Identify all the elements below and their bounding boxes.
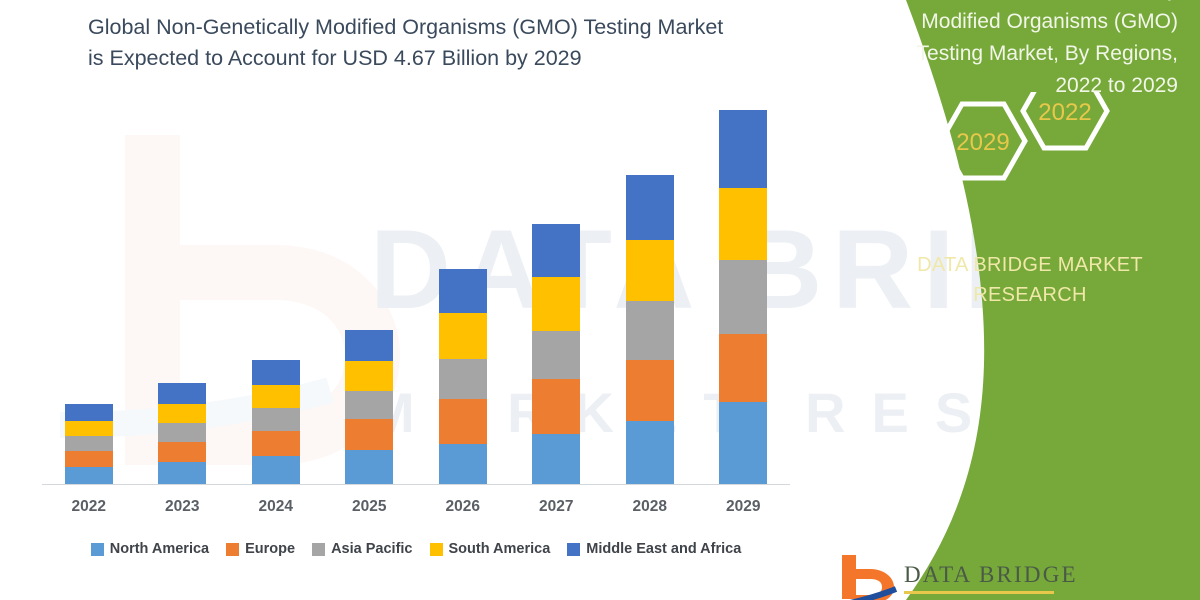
x-axis-label-2027: 2027 — [510, 498, 604, 516]
bar-slot — [510, 110, 604, 484]
brand-line-1: DATA BRIDGE MARKET — [880, 250, 1180, 280]
data-bridge-logo-text: DATA BRIDGE — [904, 562, 1078, 588]
bar-segment — [719, 334, 767, 402]
legend-item-south-america[interactable]: South America — [430, 541, 551, 557]
legend-label: Europe — [245, 541, 295, 557]
bar-segment — [439, 399, 487, 445]
legend-item-asia-pacific[interactable]: Asia Pacific — [312, 541, 412, 557]
bar-segment — [345, 450, 393, 484]
legend-label: Middle East and Africa — [586, 541, 741, 557]
bar-segment — [532, 331, 580, 379]
bar-segment — [626, 421, 674, 484]
bar-slot — [416, 110, 510, 484]
bar-slot — [603, 110, 697, 484]
bar-segment — [626, 301, 674, 360]
legend-swatch-icon — [312, 543, 325, 556]
brand-name: DATA BRIDGE MARKET RESEARCH — [880, 250, 1180, 310]
stacked-bar-2027[interactable] — [532, 224, 580, 484]
chart-legend: North AmericaEuropeAsia PacificSouth Ame… — [42, 541, 790, 557]
bar-segment — [252, 385, 300, 409]
bar-segment — [158, 462, 206, 484]
x-axis-label-2025: 2025 — [323, 498, 417, 516]
bar-slot — [697, 110, 791, 484]
bar-segment — [158, 383, 206, 403]
stacked-bar-2028[interactable] — [626, 175, 674, 484]
legend-swatch-icon — [91, 543, 104, 556]
bar-segment — [252, 360, 300, 385]
x-axis-line — [42, 484, 790, 485]
bar-segment — [532, 379, 580, 433]
brand-line-2: RESEARCH — [880, 280, 1180, 310]
infographic-canvas: DATA BRIDGE MARKET RESEARCH Global Non-G… — [0, 0, 1200, 600]
legend-item-europe[interactable]: Europe — [226, 541, 295, 557]
stacked-bar-2029[interactable] — [719, 110, 767, 484]
bar-segment — [532, 434, 580, 484]
brand-panel: Global Non-Genetically Modified Organism… — [810, 0, 1200, 600]
x-axis-label-2024: 2024 — [229, 498, 323, 516]
legend-swatch-icon — [226, 543, 239, 556]
stacked-bar-2022[interactable] — [65, 404, 113, 484]
bar-segment — [439, 269, 487, 312]
bar-segment — [719, 110, 767, 188]
bar-segment — [532, 277, 580, 331]
bar-segment — [252, 456, 300, 484]
bar-segment — [439, 444, 487, 484]
stacked-bar-2026[interactable] — [439, 269, 487, 484]
legend-label: Asia Pacific — [331, 541, 412, 557]
hexagon-2022-label: 2022 — [1038, 99, 1091, 126]
legend-swatch-icon — [567, 543, 580, 556]
bar-segment — [158, 423, 206, 442]
bar-segment — [345, 361, 393, 390]
x-axis-label-2023: 2023 — [136, 498, 230, 516]
bar-segment — [532, 224, 580, 277]
bar-segment — [439, 359, 487, 399]
bar-slot — [42, 110, 136, 484]
bar-segment — [252, 408, 300, 431]
stacked-bar-group — [42, 110, 790, 484]
bar-segment — [65, 467, 113, 484]
chart-region: Global Non-Genetically Modified Organism… — [0, 0, 830, 600]
bar-segment — [626, 240, 674, 301]
bar-segment — [65, 451, 113, 467]
x-axis-label-2026: 2026 — [416, 498, 510, 516]
bar-segment — [719, 260, 767, 333]
bar-segment — [65, 404, 113, 420]
x-axis-label-2029: 2029 — [697, 498, 791, 516]
bar-segment — [719, 188, 767, 260]
page-title: Global Non-Genetically Modified Organism… — [88, 12, 728, 74]
legend-label: North America — [110, 541, 209, 557]
bar-segment — [439, 313, 487, 359]
x-axis-label-2028: 2028 — [603, 498, 697, 516]
panel-heading: Global Non-Genetically Modified Organism… — [878, 0, 1178, 102]
legend-swatch-icon — [430, 543, 443, 556]
data-bridge-logo: DATA BRIDGE — [830, 553, 1170, 600]
hexagon-badges: 2029 2022 — [920, 92, 1130, 217]
stacked-bar-2024[interactable] — [252, 360, 300, 484]
bar-segment — [158, 404, 206, 424]
legend-item-middle-east-and-africa[interactable]: Middle East and Africa — [567, 541, 741, 557]
bar-segment — [345, 330, 393, 361]
bar-segment — [65, 421, 113, 436]
bar-slot — [136, 110, 230, 484]
x-axis-label-2022: 2022 — [42, 498, 136, 516]
bar-segment — [719, 402, 767, 484]
hexagon-2029-label: 2029 — [956, 129, 1009, 156]
bar-segment — [626, 175, 674, 240]
legend-label: South America — [449, 541, 551, 557]
bar-segment — [626, 360, 674, 420]
bar-segment — [345, 391, 393, 419]
bar-segment — [158, 442, 206, 462]
bar-segment — [345, 419, 393, 450]
bar-segment — [65, 436, 113, 451]
legend-item-north-america[interactable]: North America — [91, 541, 209, 557]
stacked-bar-2025[interactable] — [345, 330, 393, 484]
bar-slot — [323, 110, 417, 484]
stacked-bar-2023[interactable] — [158, 383, 206, 484]
bar-segment — [252, 431, 300, 456]
bar-slot — [229, 110, 323, 484]
x-axis-labels: 20222023202420252026202720282029 — [42, 498, 790, 516]
